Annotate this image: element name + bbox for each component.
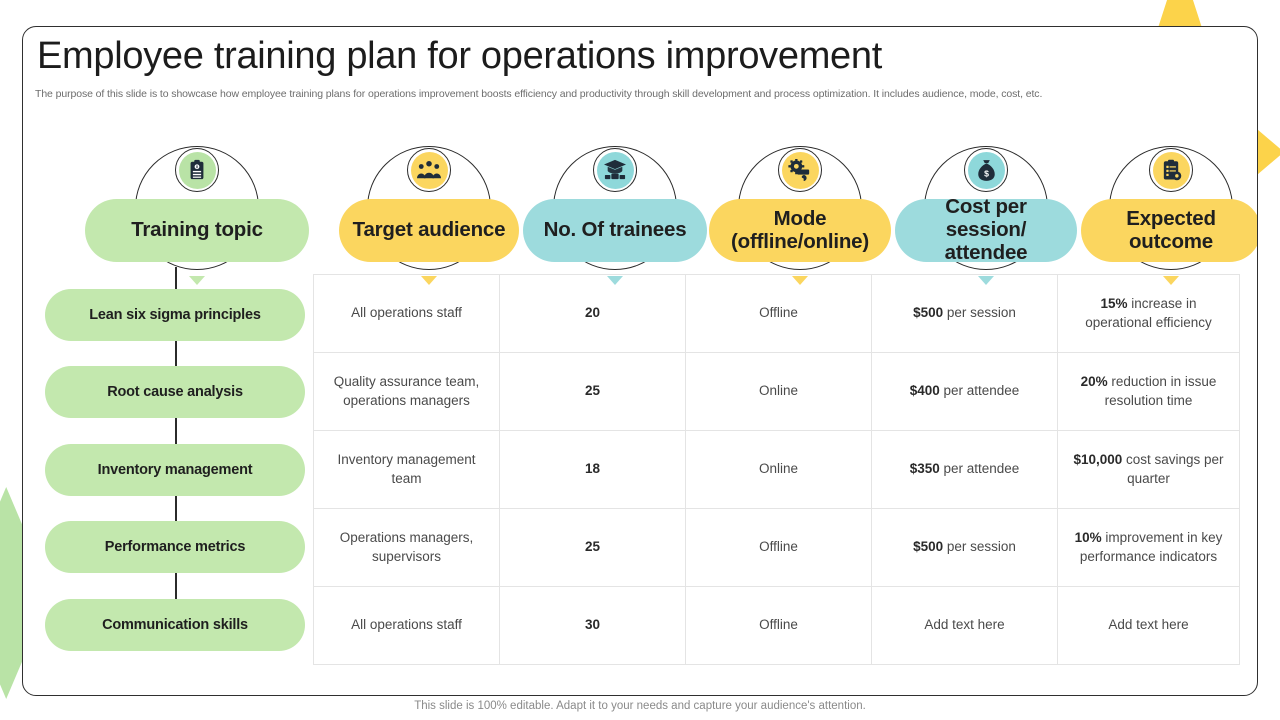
topic-pill-3[interactable]: Inventory management bbox=[45, 444, 305, 496]
cost-unit: per session bbox=[943, 539, 1016, 554]
cell-mode: Offline bbox=[686, 587, 872, 665]
checklist-icon bbox=[1153, 152, 1190, 189]
topic-pill-label: Performance metrics bbox=[105, 539, 245, 555]
table-row: Quality assurance team, operations manag… bbox=[314, 353, 1240, 431]
trainees-count: 30 bbox=[585, 617, 600, 632]
trainees-count: 25 bbox=[585, 383, 600, 398]
column-header-5[interactable]: Cost per session/attendee $ bbox=[895, 134, 1077, 286]
decorative-yellow-trapezoid bbox=[1158, 0, 1202, 28]
column-header-pill[interactable]: Expectedoutcome bbox=[1081, 199, 1258, 262]
column-icon-badge bbox=[407, 148, 451, 192]
column-header-label: Training topic bbox=[131, 219, 263, 242]
cell-cost: $500 per session bbox=[872, 275, 1058, 353]
column-icon-badge bbox=[1149, 148, 1193, 192]
people-group-icon bbox=[411, 152, 448, 189]
page-title: Employee training plan for operations im… bbox=[37, 35, 882, 78]
cell-mode: Offline bbox=[686, 275, 872, 353]
table-row: Inventory management team18Online$350 pe… bbox=[314, 431, 1240, 509]
column-header-pointer bbox=[792, 276, 808, 285]
cell-outcome: 10% improvement in key performance indic… bbox=[1058, 509, 1240, 587]
table-row: All operations staff20Offline$500 per se… bbox=[314, 275, 1240, 353]
outcome-placeholder[interactable]: Add text here bbox=[1108, 617, 1188, 632]
column-icon-badge bbox=[175, 148, 219, 192]
outcome-value: $10,000 bbox=[1073, 452, 1122, 467]
cell-cost[interactable]: Add text here bbox=[872, 587, 1058, 665]
column-header-label: Cost per session/attendee bbox=[905, 196, 1067, 265]
cell-trainees: 30 bbox=[500, 587, 686, 665]
column-header-pill[interactable]: No. Of trainees bbox=[523, 199, 707, 262]
cell-trainees: 25 bbox=[500, 509, 686, 587]
outcome-text: reduction in issue resolution time bbox=[1105, 374, 1217, 408]
column-icon-badge: $ bbox=[964, 148, 1008, 192]
topic-pill-1[interactable]: Lean six sigma principles bbox=[45, 289, 305, 341]
topic-pill-label: Root cause analysis bbox=[107, 384, 243, 400]
trainees-count: 20 bbox=[585, 305, 600, 320]
column-header-6[interactable]: Expectedoutcome bbox=[1081, 134, 1258, 286]
slide-card: Employee training plan for operations im… bbox=[22, 26, 1258, 696]
column-header-1[interactable]: Training topic bbox=[85, 134, 309, 286]
column-header-pill[interactable]: Mode(offline/online) bbox=[709, 199, 891, 262]
column-header-3[interactable]: No. Of trainees bbox=[523, 134, 707, 286]
outcome-text: cost savings per quarter bbox=[1122, 452, 1223, 486]
cost-value: $500 bbox=[913, 305, 943, 320]
cell-mode: Offline bbox=[686, 509, 872, 587]
gear-process-icon bbox=[782, 152, 819, 189]
column-header-2[interactable]: Target audience bbox=[339, 134, 519, 286]
column-header-label: No. Of trainees bbox=[544, 219, 687, 242]
cell-cost: $350 per attendee bbox=[872, 431, 1058, 509]
column-header-pointer bbox=[607, 276, 623, 285]
column-icon-badge bbox=[593, 148, 637, 192]
table-row: All operations staff30OfflineAdd text he… bbox=[314, 587, 1240, 665]
cost-unit: per session bbox=[943, 305, 1016, 320]
cost-value: $400 bbox=[910, 383, 940, 398]
footer-note: This slide is 100% editable. Adapt it to… bbox=[0, 700, 1280, 712]
cell-cost: $400 per attendee bbox=[872, 353, 1058, 431]
column-header-pointer bbox=[978, 276, 994, 285]
cell-trainees: 25 bbox=[500, 353, 686, 431]
cell-outcome[interactable]: Add text here bbox=[1058, 587, 1240, 665]
column-header-4[interactable]: Mode(offline/online) bbox=[709, 134, 891, 286]
cell-outcome: 20% reduction in issue resolution time bbox=[1058, 353, 1240, 431]
cell-audience: All operations staff bbox=[314, 275, 500, 353]
money-bag-icon: $ bbox=[968, 152, 1005, 189]
training-plan-table: All operations staff20Offline$500 per se… bbox=[313, 274, 1240, 665]
cost-value: $350 bbox=[910, 461, 940, 476]
column-header-pill[interactable]: Training topic bbox=[85, 199, 309, 262]
cell-outcome: $10,000 cost savings per quarter bbox=[1058, 431, 1240, 509]
column-header-label: Mode(offline/online) bbox=[731, 208, 869, 254]
cell-trainees: 18 bbox=[500, 431, 686, 509]
column-header-label: Expectedoutcome bbox=[1126, 208, 1216, 254]
column-icon-badge bbox=[778, 148, 822, 192]
topic-pill-2[interactable]: Root cause analysis bbox=[45, 366, 305, 418]
cell-audience: All operations staff bbox=[314, 587, 500, 665]
column-header-pointer bbox=[421, 276, 437, 285]
table-row: Operations managers, supervisors25Offlin… bbox=[314, 509, 1240, 587]
cell-trainees: 20 bbox=[500, 275, 686, 353]
outcome-value: 10% bbox=[1075, 530, 1102, 545]
cell-outcome: 15% increase in operational efficiency bbox=[1058, 275, 1240, 353]
outcome-value: 15% bbox=[1100, 296, 1127, 311]
column-header-pointer bbox=[189, 276, 205, 285]
topic-pill-4[interactable]: Performance metrics bbox=[45, 521, 305, 573]
cell-mode: Online bbox=[686, 431, 872, 509]
trainees-count: 25 bbox=[585, 539, 600, 554]
cell-cost: $500 per session bbox=[872, 509, 1058, 587]
cost-value: $500 bbox=[913, 539, 943, 554]
column-header-pill[interactable]: Target audience bbox=[339, 199, 519, 262]
clipboard-icon bbox=[179, 152, 216, 189]
cell-mode: Online bbox=[686, 353, 872, 431]
topic-pill-label: Lean six sigma principles bbox=[89, 307, 261, 323]
cost-unit: per attendee bbox=[940, 383, 1020, 398]
cost-unit: per attendee bbox=[940, 461, 1020, 476]
column-header-label: Target audience bbox=[353, 219, 506, 242]
page-subtitle: The purpose of this slide is to showcase… bbox=[35, 88, 1235, 100]
column-header-pointer bbox=[1163, 276, 1179, 285]
cost-placeholder[interactable]: Add text here bbox=[924, 617, 1004, 632]
topic-pill-label: Inventory management bbox=[98, 462, 253, 478]
cell-audience: Operations managers, supervisors bbox=[314, 509, 500, 587]
cell-audience: Quality assurance team, operations manag… bbox=[314, 353, 500, 431]
cell-audience: Inventory management team bbox=[314, 431, 500, 509]
svg-text:$: $ bbox=[984, 168, 989, 178]
column-header-pill[interactable]: Cost per session/attendee bbox=[895, 199, 1077, 262]
outcome-text: improvement in key performance indicator… bbox=[1080, 530, 1223, 564]
topic-pill-5[interactable]: Communication skills bbox=[45, 599, 305, 651]
graduate-icon bbox=[597, 152, 634, 189]
outcome-value: 20% bbox=[1081, 374, 1108, 389]
topic-pill-label: Communication skills bbox=[102, 617, 248, 633]
trainees-count: 18 bbox=[585, 461, 600, 476]
